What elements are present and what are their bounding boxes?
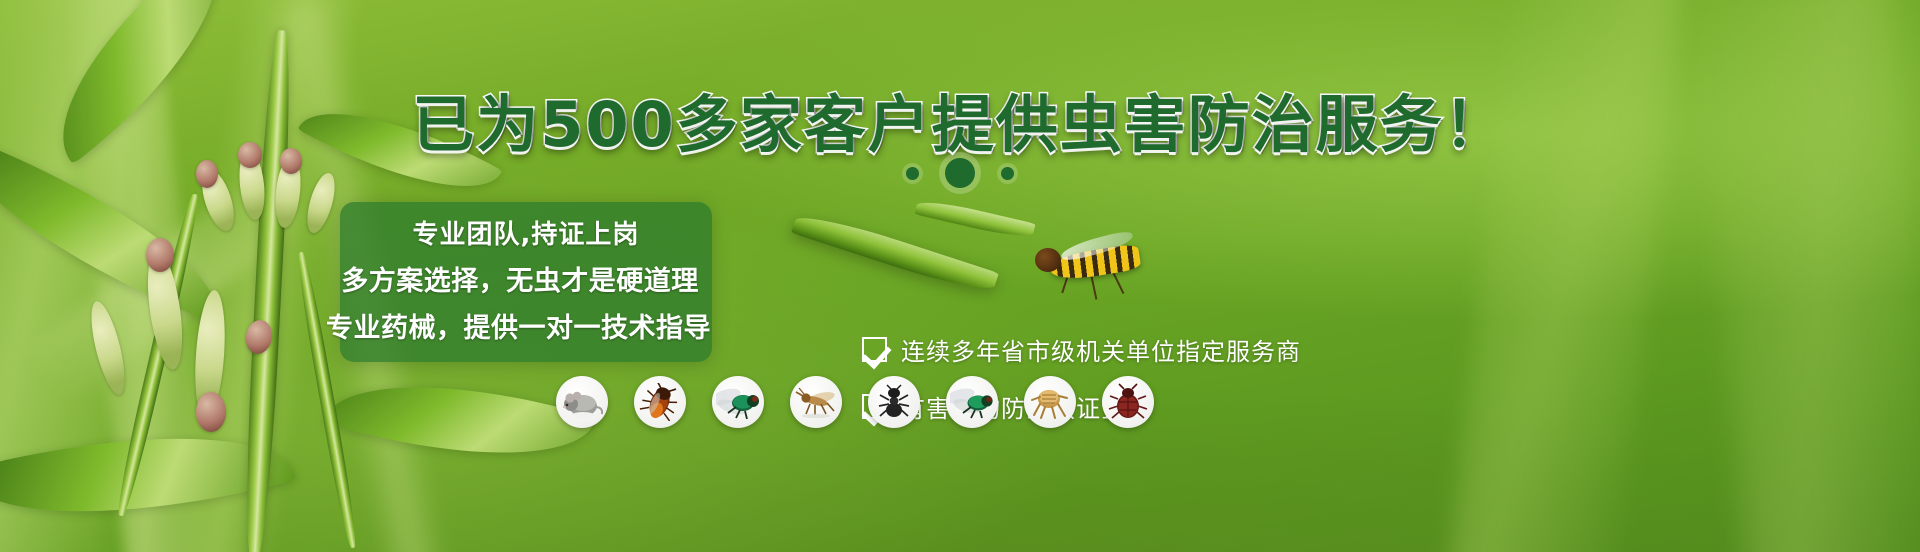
insect-head (1035, 248, 1061, 272)
mosquito-icon (794, 385, 838, 419)
pest-icon-blowfly[interactable] (712, 376, 764, 428)
selling-points-text: 专业团队,持证上岗 多方案选择，无虫才是硬道理 专业药械，提供一对一技术指导 (340, 208, 712, 342)
pest-icon-mouse[interactable] (556, 376, 608, 428)
leaf (0, 393, 296, 552)
mouse-icon (561, 385, 603, 419)
grass-blade (28, 165, 307, 405)
flower-bud (191, 289, 228, 421)
flower-bud (243, 318, 275, 356)
flower-bud (85, 299, 132, 398)
insect-body (1049, 243, 1142, 283)
pest-icon-mosquito[interactable] (790, 376, 842, 428)
pest-icon-housefly[interactable] (946, 376, 998, 428)
insect-wing (1059, 229, 1135, 262)
pest-icon-cockroach[interactable] (634, 376, 686, 428)
flea-icon (1030, 384, 1070, 420)
flower-bud (196, 392, 226, 432)
flower-bud (146, 238, 174, 272)
selling-point-line-2: 多方案选择，无虫才是硬道理 (334, 248, 706, 295)
housefly-icon (950, 385, 994, 419)
flower-bud (196, 160, 218, 188)
blowfly-icon (716, 385, 760, 419)
decor-dot-small-left (906, 167, 919, 180)
insect-leg (1090, 274, 1097, 300)
flower-bud (142, 248, 188, 371)
leaf (0, 137, 244, 324)
banner-headline: 已为500多家客户提供虫害防治服务！ (0, 74, 1920, 164)
bedbug-icon (1108, 383, 1148, 421)
leaf-blade (791, 208, 999, 298)
insect-leg (1112, 272, 1124, 294)
flower-bud (302, 170, 340, 236)
pest-icon-ant[interactable] (868, 376, 920, 428)
ant-icon (874, 384, 914, 420)
selling-point-line-3: 专业药械，提供一对一技术指导 (326, 295, 698, 342)
selling-point-line-1: 专业团队,持证上岗 (340, 208, 712, 248)
promo-banner: 已为500多家客户提供虫害防治服务！ 专业团队,持证上岗 多方案选择，无虫才是硬… (0, 0, 1920, 552)
checkbox-checked-icon (862, 337, 887, 362)
pest-icon-row (556, 376, 1154, 428)
cockroach-icon (639, 383, 681, 421)
checklist-item: 连续多年省市级机关单位指定服务商 (862, 332, 1301, 367)
pest-icon-flea[interactable] (1024, 376, 1076, 428)
insect-leg (1061, 272, 1070, 294)
decor-dot-small-right (1001, 167, 1014, 180)
plant-stem (113, 192, 203, 517)
leaf-blade (915, 197, 1036, 242)
checklist-item-label: 连续多年省市级机关单位指定服务商 (901, 332, 1301, 367)
pest-icon-bedbug[interactable] (1102, 376, 1154, 428)
flower-bud (272, 155, 303, 229)
flower-bud (196, 166, 241, 235)
